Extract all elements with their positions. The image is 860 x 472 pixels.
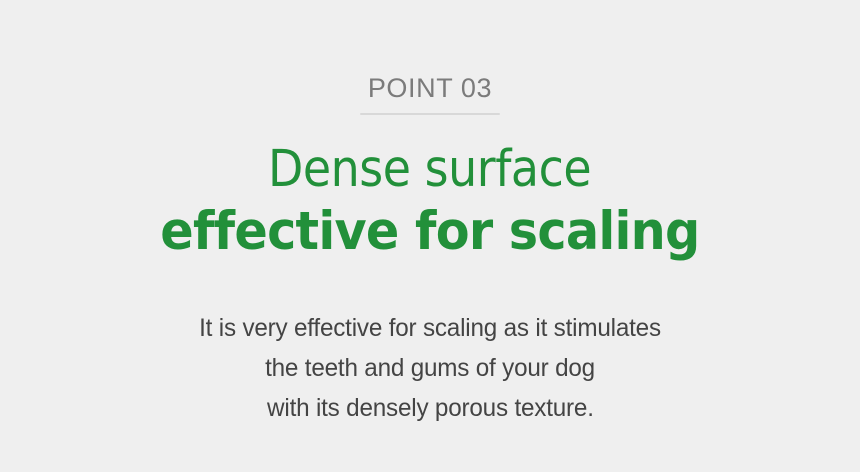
headline-line-1: Dense surface <box>268 141 591 198</box>
body-line-1: It is very effective for scaling as it s… <box>199 308 661 348</box>
headline-line-2: effective for scaling <box>160 202 699 261</box>
body-line-2: the teeth and gums of your dog <box>265 348 595 388</box>
headline-block: Dense surface effective for scaling <box>140 141 720 261</box>
promo-slide: POINT 03 Dense surface effective for sca… <box>0 0 860 472</box>
eyebrow-block: POINT 03 <box>360 74 500 115</box>
body-line-3: with its densely porous texture. <box>267 388 594 428</box>
eyebrow-divider <box>360 113 500 115</box>
body-copy-block: It is very effective for scaling as it s… <box>192 308 668 428</box>
point-label: POINT 03 <box>368 74 492 102</box>
